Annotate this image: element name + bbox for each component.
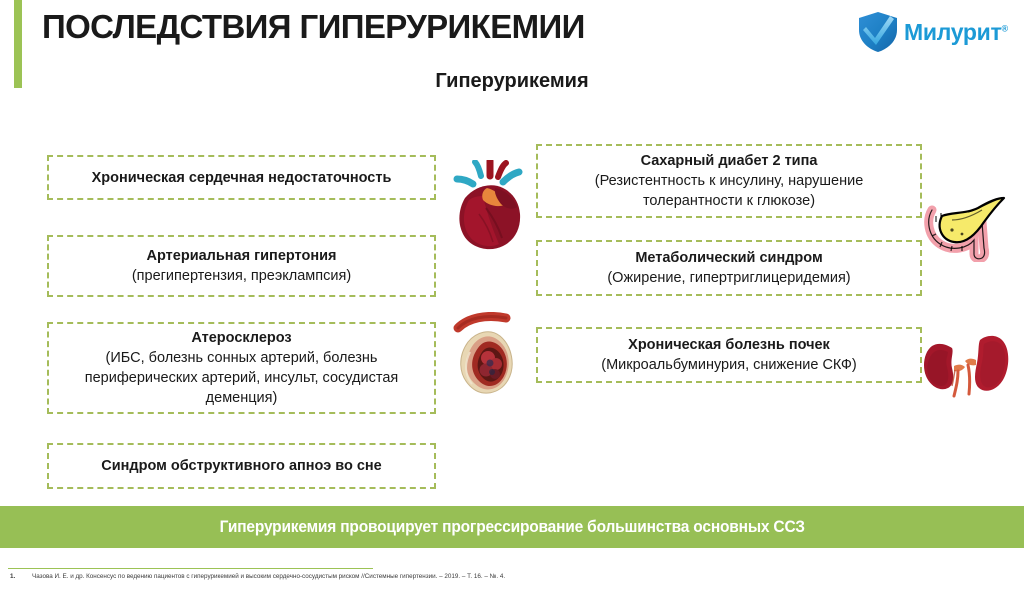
atherosclerotic-artery-illustration — [452, 312, 536, 408]
footnote-text: Чазова И. Е. и др. Консенсус по ведению … — [32, 573, 505, 580]
condition-box-atherosclerosis[interactable]: Атеросклероз (ИБС, болезнь сонных артери… — [47, 322, 436, 414]
condition-box-sleep-apnea[interactable]: Синдром обструктивного апноэ во сне — [47, 443, 436, 489]
condition-title: Синдром обструктивного апноэ во сне — [101, 456, 381, 476]
condition-title: Хроническая болезнь почек — [628, 335, 830, 355]
condition-detail: (Ожирение, гипертриглицеридемия) — [607, 268, 850, 288]
condition-box-heart-failure[interactable]: Хроническая сердечная недостаточность — [47, 155, 436, 200]
condition-box-diabetes-type-2[interactable]: Сахарный диабет 2 типа (Резистентность к… — [536, 144, 922, 218]
condition-title: Метаболический синдром — [635, 248, 822, 268]
logo-name: Милурит — [904, 19, 1001, 45]
condition-title: Хроническая сердечная недостаточность — [92, 168, 392, 188]
condition-title: Атеросклероз — [191, 328, 291, 348]
slide-canvas: ПОСЛЕДСТВИЯ ГИПЕРУРИКЕМИИ Гиперурикемия — [0, 0, 1024, 589]
condition-title: Сахарный диабет 2 типа — [641, 151, 818, 171]
anatomical-heart-illustration — [443, 160, 535, 258]
condition-box-arterial-hypertension[interactable]: Артериальная гипертония (прегипертензия,… — [47, 235, 436, 297]
summary-banner: Гиперурикемия провоцирует прогрессирован… — [0, 506, 1024, 548]
condition-detail: (ИБС, болезнь сонных артерий, болезнь пе… — [57, 348, 426, 408]
condition-detail: (Резистентность к инсулину, нарушение то… — [546, 171, 912, 211]
condition-box-chronic-kidney-disease[interactable]: Хроническая болезнь почек (Микроальбумин… — [536, 327, 922, 383]
condition-box-metabolic-syndrome[interactable]: Метаболический синдром (Ожирение, гиперт… — [536, 240, 922, 296]
condition-title: Артериальная гипертония — [147, 246, 337, 266]
summary-banner-text: Гиперурикемия провоцирует прогрессирован… — [219, 518, 804, 537]
subtitle: Гиперурикемия — [0, 70, 1024, 93]
footnote-number: 1. — [10, 572, 32, 582]
page-title: ПОСЛЕДСТВИЯ ГИПЕРУРИКЕМИИ — [42, 6, 702, 48]
shield-check-icon — [856, 10, 900, 54]
pancreas-illustration — [922, 186, 1008, 262]
condition-detail: (Микроальбуминурия, снижение СКФ) — [601, 355, 856, 375]
registered-mark: ® — [1001, 23, 1007, 33]
logo-wordmark: Милурит® — [904, 19, 1008, 46]
brand-logo: Милурит® — [856, 8, 1006, 56]
footnote-divider — [8, 568, 373, 569]
condition-detail: (прегипертензия, преэклампсия) — [132, 266, 351, 286]
kidneys-illustration — [918, 322, 1014, 414]
footnote-reference: 1.Чазова И. Е. и др. Консенсус по ведени… — [10, 572, 1014, 582]
